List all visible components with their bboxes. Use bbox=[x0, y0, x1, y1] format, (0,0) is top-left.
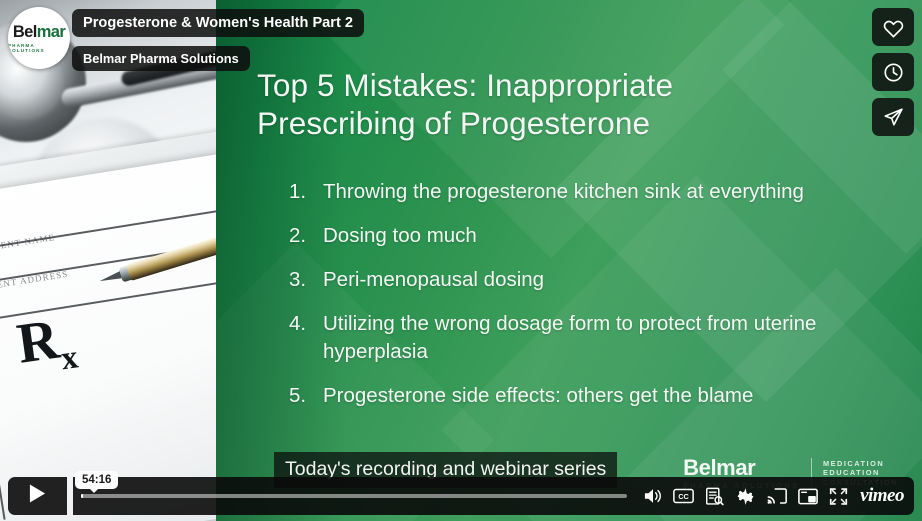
play-icon bbox=[28, 483, 47, 509]
list-item: 4. Utilizing the wrong dosage form to pr… bbox=[289, 310, 899, 365]
avatar-logo-part2: mar bbox=[37, 23, 65, 41]
gear-icon bbox=[736, 487, 755, 506]
volume-icon bbox=[643, 487, 663, 505]
list-item-number: 1. bbox=[289, 178, 323, 206]
list-item-number: 5. bbox=[289, 382, 323, 410]
pip-button[interactable] bbox=[792, 477, 823, 515]
presentation-slide: Top 5 Mistakes: Inappropriate Prescribin… bbox=[216, 0, 922, 521]
video-title[interactable]: Progesterone & Women's Health Part 2 bbox=[72, 9, 364, 37]
volume-button[interactable] bbox=[637, 477, 668, 515]
like-button[interactable] bbox=[872, 8, 914, 46]
video-thumbnail-photo: PATIENT NAME PATIENT ADDRESS Rx bbox=[0, 0, 216, 521]
share-icon bbox=[883, 107, 904, 128]
list-item-text: Throwing the progesterone kitchen sink a… bbox=[323, 178, 899, 206]
list-item-number: 2. bbox=[289, 222, 323, 250]
avatar-logo-text: Belmar bbox=[13, 24, 65, 41]
list-item-text: Peri-menopausal dosing bbox=[323, 266, 899, 294]
vimeo-video-player[interactable]: PATIENT NAME PATIENT ADDRESS Rx Top 5 Mi… bbox=[0, 0, 922, 521]
settings-button[interactable] bbox=[730, 477, 761, 515]
watermark-tagline-1: MEDICATION bbox=[823, 459, 898, 469]
heart-icon bbox=[883, 17, 904, 38]
clock-icon bbox=[883, 62, 904, 83]
vimeo-logo[interactable]: vimeo bbox=[860, 485, 904, 507]
duration-tooltip: 54:16 bbox=[75, 471, 118, 489]
picture-in-picture-icon bbox=[798, 488, 818, 505]
transcript-button[interactable] bbox=[699, 477, 730, 515]
slide-title-line1: Top 5 Mistakes: Inappropriate bbox=[257, 66, 897, 104]
list-item-number: 3. bbox=[289, 266, 323, 294]
player-control-bar[interactable]: 54:16 CC bbox=[73, 477, 914, 515]
chromecast-icon bbox=[767, 487, 787, 505]
list-item: 5. Progesterone side effects: others get… bbox=[289, 382, 899, 410]
list-item: 3. Peri-menopausal dosing bbox=[289, 266, 899, 294]
play-button[interactable] bbox=[8, 477, 67, 515]
list-item-text: Utilizing the wrong dosage form to prote… bbox=[323, 310, 899, 365]
fullscreen-button[interactable] bbox=[823, 477, 854, 515]
list-item-text: Dosing too much bbox=[323, 222, 899, 250]
rx-symbol: Rx bbox=[14, 308, 80, 382]
list-item-number: 4. bbox=[289, 310, 323, 365]
avatar-logo-part1: Bel bbox=[13, 23, 37, 41]
channel-avatar[interactable]: Belmar PHARMA SOLUTIONS bbox=[8, 7, 70, 69]
list-item-text: Progesterone side effects: others get th… bbox=[323, 382, 899, 410]
control-buttons-group[interactable]: CC bbox=[637, 477, 914, 515]
video-stage[interactable]: PATIENT NAME PATIENT ADDRESS Rx Top 5 Mi… bbox=[0, 0, 922, 521]
avatar-logo-subtitle: PHARMA SOLUTIONS bbox=[8, 43, 70, 53]
video-author[interactable]: Belmar Pharma Solutions bbox=[72, 46, 250, 71]
progress-bar[interactable]: 54:16 bbox=[73, 477, 637, 515]
cc-icon: CC bbox=[673, 488, 694, 504]
fullscreen-icon bbox=[829, 487, 848, 506]
slide-numbered-list: 1. Throwing the progesterone kitchen sin… bbox=[289, 178, 899, 426]
share-button[interactable] bbox=[872, 98, 914, 136]
watermark-brand-name: Belmar bbox=[683, 457, 800, 479]
side-action-group[interactable] bbox=[872, 8, 914, 136]
list-item: 2. Dosing too much bbox=[289, 222, 899, 250]
slide-title-line2: Prescribing of Progesterone bbox=[257, 104, 897, 142]
progress-fill bbox=[81, 494, 83, 498]
list-item: 1. Throwing the progesterone kitchen sin… bbox=[289, 178, 899, 206]
svg-text:CC: CC bbox=[678, 492, 689, 501]
transcript-search-icon bbox=[705, 487, 724, 506]
watch-later-button[interactable] bbox=[872, 53, 914, 91]
slide-title: Top 5 Mistakes: Inappropriate Prescribin… bbox=[257, 66, 897, 142]
progress-track[interactable] bbox=[81, 494, 627, 498]
chromecast-button[interactable] bbox=[761, 477, 792, 515]
captions-button[interactable]: CC bbox=[668, 477, 699, 515]
